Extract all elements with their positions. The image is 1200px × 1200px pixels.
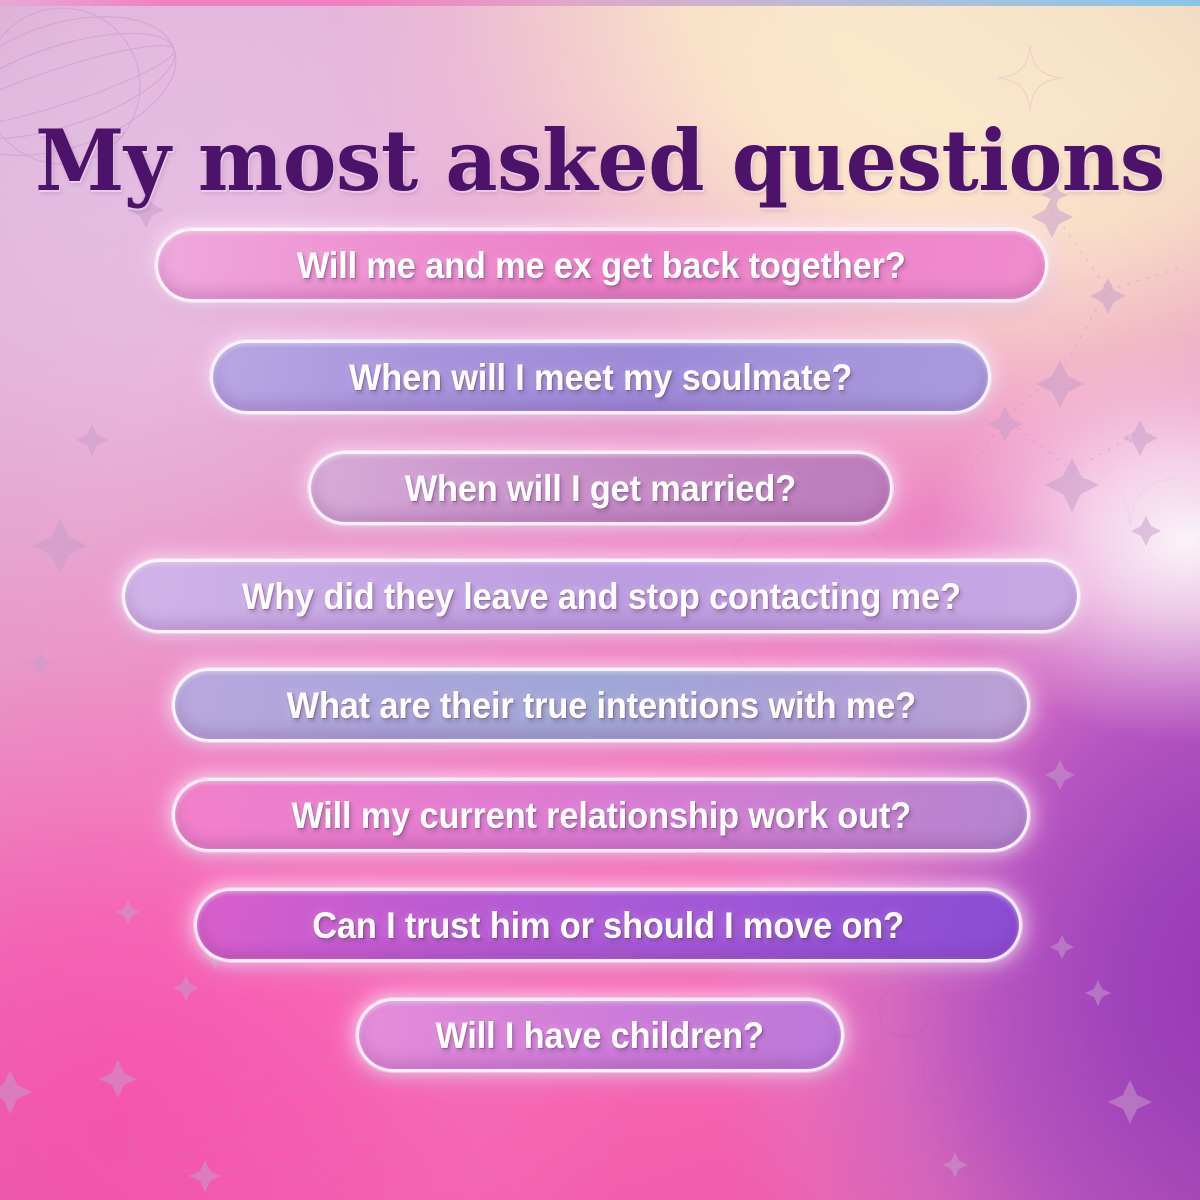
question-pill-label: Why did they leave and stop contacting m…: [242, 578, 961, 615]
question-pill-label: Will my current relationship work out?: [291, 797, 911, 834]
question-pill-label: When will I meet my soulmate?: [349, 359, 852, 396]
poster-canvas: My most asked questions Will me and me e…: [0, 0, 1200, 1200]
question-pill-3[interactable]: When will I get married?: [308, 451, 893, 525]
question-pill-8[interactable]: Will I have children?: [356, 998, 844, 1072]
question-pill-2[interactable]: When will I meet my soulmate?: [210, 340, 991, 414]
question-pill-label: What are their true intentions with me?: [286, 687, 915, 724]
question-pill-4[interactable]: Why did they leave and stop contacting m…: [122, 559, 1080, 633]
question-pill-7[interactable]: Can I trust him or should I move on?: [194, 888, 1022, 962]
question-pill-label: Will I have children?: [436, 1017, 764, 1054]
question-pill-1[interactable]: Will me and me ex get back together?: [155, 228, 1048, 302]
question-pill-label: Will me and me ex get back together?: [297, 247, 906, 284]
question-pill-5[interactable]: What are their true intentions with me?: [172, 668, 1030, 742]
page-title: My most asked questions: [24, 119, 1176, 203]
question-pill-6[interactable]: Will my current relationship work out?: [172, 778, 1030, 852]
question-pill-label: Can I trust him or should I move on?: [312, 907, 904, 944]
question-pill-label: When will I get married?: [405, 470, 796, 507]
